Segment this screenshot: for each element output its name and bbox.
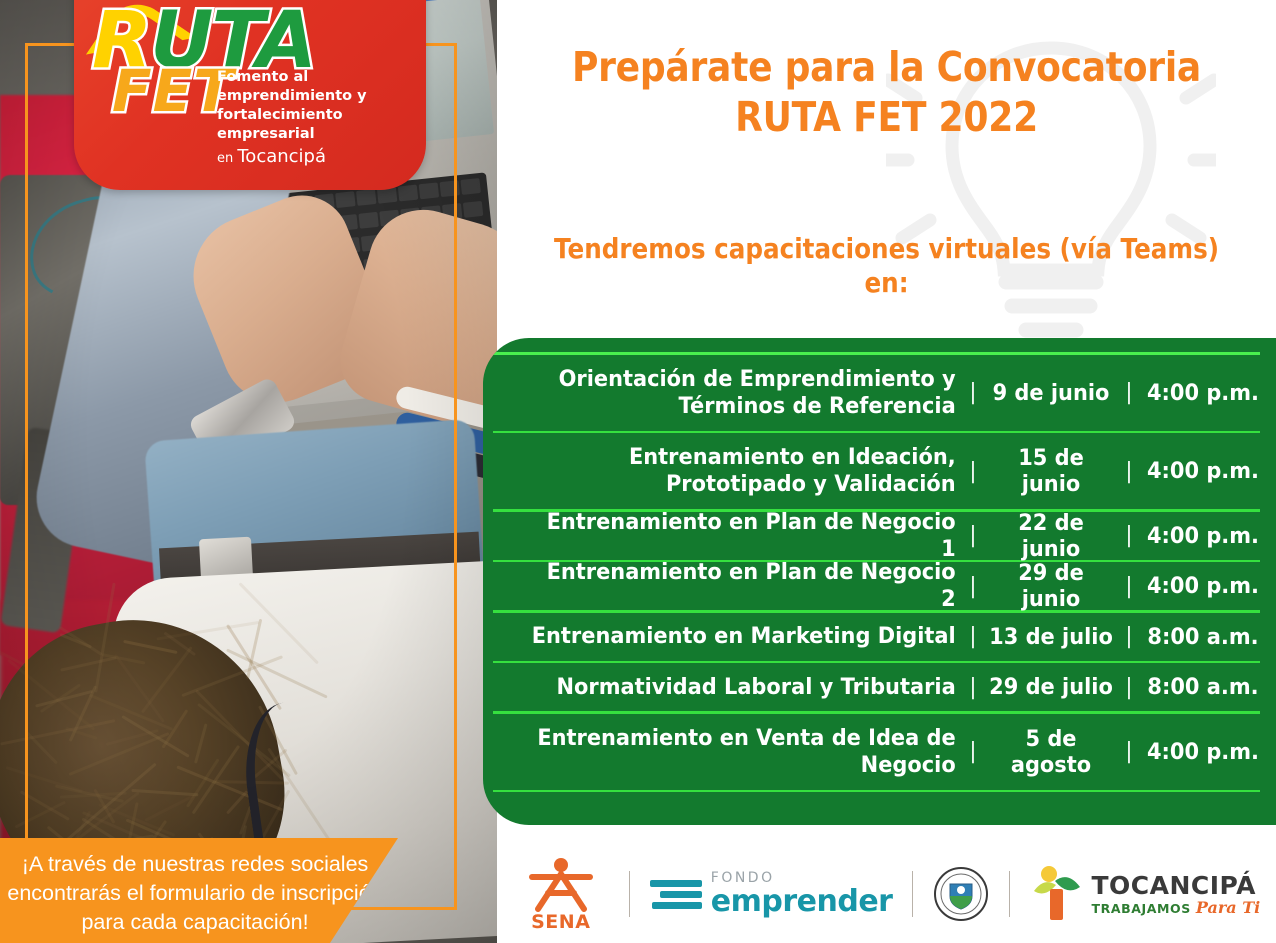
schedule-time: 4:00 p.m. — [1142, 573, 1265, 599]
fondo-word-bottom: emprender — [711, 887, 893, 917]
schedule-topic: Entrenamiento en Marketing Digital — [526, 623, 965, 650]
poster-canvas: RUTA FET Fomento al emprendimiento y for… — [0, 0, 1276, 943]
schedule-table: Orientación de Emprendimiento y Términos… — [493, 352, 1260, 815]
schedule-topic: Entrenamiento en Ideación, Prototipado y… — [526, 444, 965, 498]
schedule-separator: | — [1121, 523, 1137, 548]
schedule-time: 8:00 a.m. — [1142, 624, 1265, 650]
logo-tagline-line3: en Tocancipá — [217, 145, 407, 169]
title-line-1: Prepárate para la Convocatoria — [544, 42, 1230, 92]
schedule-topic: Orientación de Emprendimiento y Términos… — [526, 366, 965, 420]
sena-wordmark: SENA — [531, 913, 590, 932]
schedule-separator: | — [1121, 459, 1137, 484]
schedule-row: Orientación de Emprendimiento y Términos… — [493, 355, 1260, 431]
schedule-separator: | — [965, 624, 981, 649]
sena-figure-icon — [524, 857, 598, 913]
schedule-separator: | — [1121, 574, 1137, 599]
schedule-separator: | — [965, 739, 981, 764]
fondo-word-top: FONDO — [711, 871, 893, 885]
schedule-row: Normatividad Laboral y Tributaria|29 de … — [493, 663, 1260, 711]
schedule-topic: Entrenamiento en Venta de Idea de Negoci… — [526, 725, 965, 779]
logo-divider-1 — [629, 871, 630, 917]
note-line3: para cada capacitación! — [81, 910, 308, 934]
schedule-date: 15 de junio — [986, 445, 1116, 497]
logo-tagline: Fomento al emprendimiento y fortalecimie… — [217, 68, 407, 168]
tocancipa-tagline-2: Para Ti — [1196, 900, 1260, 916]
logo-tagline-line1: Fomento al emprendimiento y — [217, 68, 407, 106]
logo-divider-3 — [1009, 871, 1010, 917]
schedule-separator: | — [1121, 739, 1137, 764]
tocancipa-wordmark: TOCANCIPÁ — [1091, 873, 1260, 898]
logo-wordmark-fet: FET — [112, 62, 234, 120]
schedule-date: 22 de junio — [986, 510, 1116, 562]
schedule-row: Entrenamiento en Venta de Idea de Negoci… — [493, 714, 1260, 790]
page-title: Prepárate para la Convocatoria RUTA FET … — [544, 42, 1230, 142]
sena-logo: SENA — [513, 857, 609, 932]
schedule-date: 5 de agosto — [986, 726, 1116, 778]
partner-logos: SENA FONDO emprender — [497, 845, 1276, 943]
tocancipa-municipal-seal-icon — [933, 866, 989, 922]
schedule-separator: | — [965, 380, 981, 405]
subtitle: Tendremos capacitaciones virtuales (vía … — [544, 232, 1230, 299]
tocancipa-tagline-1: TRABAJAMOS — [1091, 903, 1190, 916]
schedule-time: 8:00 a.m. — [1142, 674, 1265, 700]
schedule-row: Entrenamiento en Ideación, Prototipado y… — [493, 433, 1260, 509]
fondo-emprender-logo: FONDO emprender — [650, 871, 893, 917]
schedule-row: Entrenamiento en Plan de Negocio 1|22 de… — [493, 512, 1260, 560]
schedule-row: Entrenamiento en Marketing Digital|13 de… — [493, 613, 1260, 661]
schedule-divider — [493, 790, 1260, 793]
schedule-panel: Orientación de Emprendimiento y Términos… — [483, 338, 1276, 825]
logo-divider-2 — [912, 871, 913, 917]
schedule-date: 29 de junio — [986, 560, 1116, 612]
schedule-date: 29 de julio — [986, 674, 1116, 700]
schedule-time: 4:00 p.m. — [1142, 523, 1265, 549]
schedule-date: 9 de junio — [986, 380, 1116, 406]
registration-note-text: ¡A través de nuestras redes sociales enc… — [0, 850, 390, 937]
schedule-separator: | — [965, 574, 981, 599]
note-line1: ¡A través de nuestras redes sociales — [22, 852, 369, 876]
schedule-time: 4:00 p.m. — [1142, 380, 1265, 406]
tocancipa-logo: TOCANCIPÁ TRABAJAMOS Para Ti — [1030, 865, 1260, 923]
schedule-topic: Normatividad Laboral y Tributaria — [526, 674, 965, 701]
ruta-fet-logo-badge: RUTA FET Fomento al emprendimiento y for… — [74, 0, 426, 190]
schedule-separator: | — [1121, 380, 1137, 405]
schedule-separator: | — [965, 675, 981, 700]
fondo-bars-icon — [650, 880, 702, 909]
schedule-time: 4:00 p.m. — [1142, 739, 1265, 765]
schedule-separator: | — [1121, 675, 1137, 700]
tocancipa-tree-person-icon — [1030, 865, 1084, 923]
schedule-row: Entrenamiento en Plan de Negocio 2|29 de… — [493, 562, 1260, 610]
logo-tagline-line2: fortalecimiento empresarial — [217, 106, 407, 144]
title-line-2: RUTA FET 2022 — [544, 92, 1230, 142]
schedule-separator: | — [1121, 624, 1137, 649]
note-line2: encontrarás el formulario de inscripción — [7, 881, 382, 905]
schedule-topic: Entrenamiento en Plan de Negocio 2 — [526, 559, 965, 613]
schedule-time: 4:00 p.m. — [1142, 458, 1265, 484]
schedule-topic: Entrenamiento en Plan de Negocio 1 — [526, 509, 965, 563]
schedule-separator: | — [965, 523, 981, 548]
schedule-date: 13 de julio — [986, 624, 1116, 650]
schedule-separator: | — [965, 459, 981, 484]
